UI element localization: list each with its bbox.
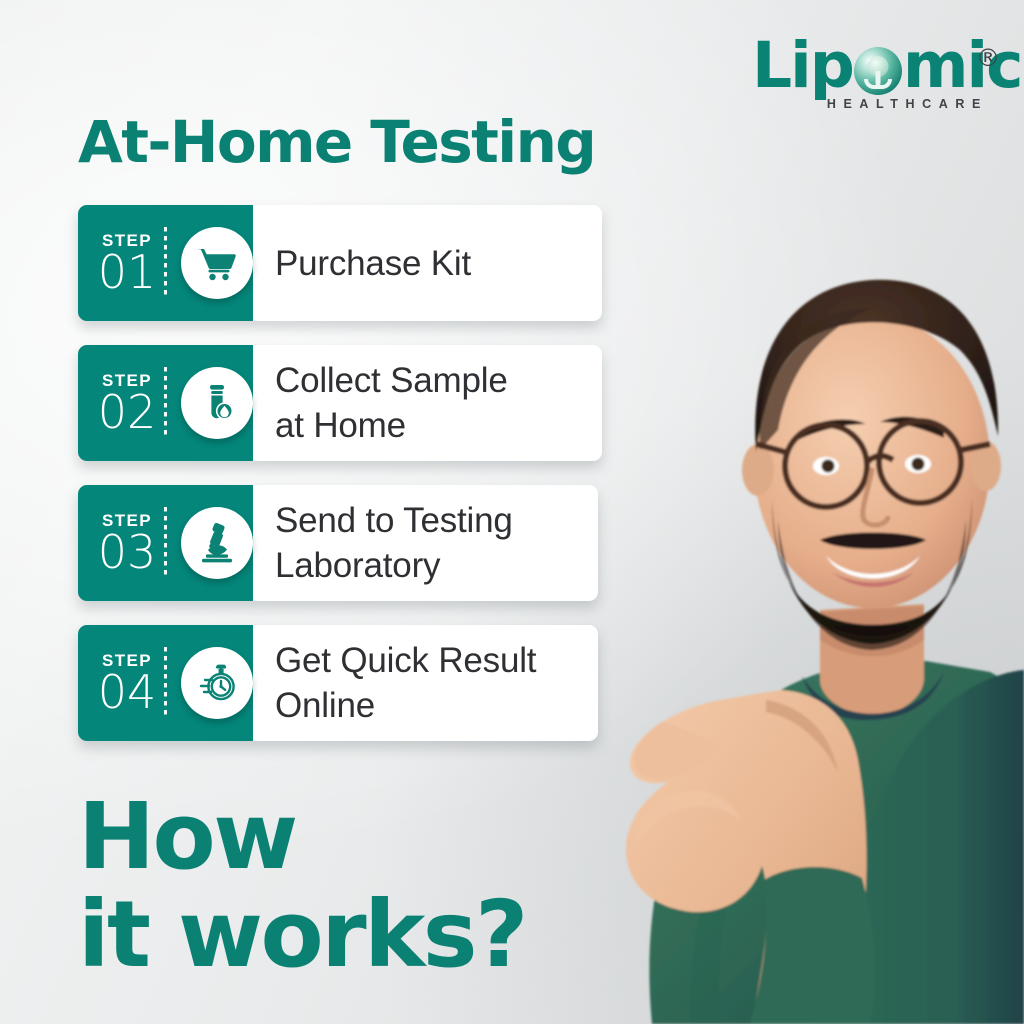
logo-tagline: HEALTHCARE xyxy=(766,97,988,111)
dotted-divider xyxy=(164,507,167,579)
step-number: 03 xyxy=(98,528,157,576)
brand-logo[interactable]: Lip mic ® HEALTHCARE xyxy=(752,34,1000,116)
microscope-icon xyxy=(181,507,253,579)
step-badge-04: STEP 04 xyxy=(78,625,253,741)
dotted-divider xyxy=(164,647,167,719)
step-card-03[interactable]: STEP 03 Send to Testi xyxy=(78,485,598,601)
step-number: 04 xyxy=(98,668,157,716)
logo-word-pre: Lip xyxy=(752,29,853,102)
step-card-01[interactable]: STEP 01 Purchase Kit xyxy=(78,205,602,321)
step-badge-03: STEP 03 xyxy=(78,485,253,601)
logo-word-post: mic xyxy=(903,29,1022,102)
step-label-line2: at Home xyxy=(275,406,406,445)
poster-canvas: Lip mic ® HEALTHCARE At-Home Testing STE… xyxy=(0,0,1024,1024)
step-label-line1: Send to Testing xyxy=(275,501,513,540)
step-label-line2: Laboratory xyxy=(275,546,440,585)
dotted-divider xyxy=(164,367,167,439)
step-text-04: Get Quick Result Online xyxy=(253,625,598,741)
step-label-line1: Collect Sample xyxy=(275,361,508,400)
footer-headline: How it works? xyxy=(78,788,526,984)
step-badge-02: STEP 02 xyxy=(78,345,253,461)
step-badge-01: STEP 01 xyxy=(78,205,253,321)
step-number: 02 xyxy=(98,388,157,436)
footer-headline-line1: How xyxy=(78,783,296,890)
page-title: At-Home Testing xyxy=(78,107,595,177)
bulb-tree-icon xyxy=(854,47,902,95)
dotted-divider xyxy=(164,227,167,299)
step-card-02[interactable]: STEP 02 Collect Sampl xyxy=(78,345,602,461)
step-label-line2: Online xyxy=(275,686,375,725)
step-text-03: Send to Testing Laboratory xyxy=(253,485,598,601)
registered-trademark-icon: ® xyxy=(976,46,1000,70)
step-text-01: Purchase Kit xyxy=(253,205,602,321)
step-card-04[interactable]: STEP 04 xyxy=(78,625,598,741)
stopwatch-icon xyxy=(181,647,253,719)
step-label-line1: Get Quick Result xyxy=(275,641,536,680)
step-text-02: Collect Sample at Home xyxy=(253,345,602,461)
footer-headline-line2: it works? xyxy=(78,886,526,984)
test-tube-blood-drop-icon xyxy=(181,367,253,439)
step-number: 01 xyxy=(98,248,157,296)
shopping-cart-icon xyxy=(181,227,253,299)
step-label-line1: Purchase Kit xyxy=(275,244,471,283)
